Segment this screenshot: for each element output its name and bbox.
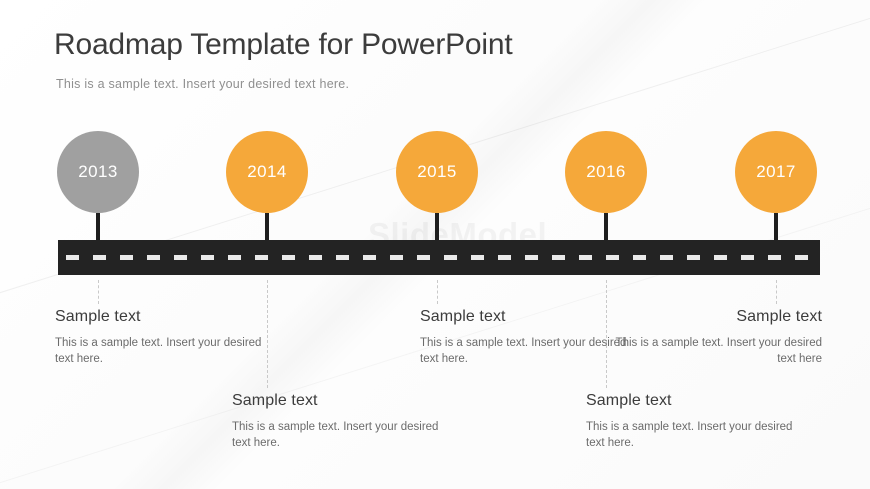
text-block-body: This is a sample text. Insert your desir… (55, 335, 265, 367)
milestone-stem (604, 213, 608, 241)
milestone-connector-line (267, 280, 268, 388)
text-block-heading: Sample text (610, 308, 822, 326)
milestone-year-label-2017: 2017 (735, 131, 817, 213)
milestone-stem (435, 213, 439, 241)
milestone-2015[interactable]: 2015 (396, 131, 478, 213)
roadmap-slide: Roadmap Template for PowerPoint This is … (0, 0, 870, 489)
text-block-heading: Sample text (55, 308, 265, 326)
milestone-2017[interactable]: 2017 (735, 131, 817, 213)
milestone-connector-line (98, 280, 99, 304)
milestone-year-label-2013: 2013 (57, 131, 139, 213)
milestone-year-label-2016: 2016 (565, 131, 647, 213)
milestone-2014[interactable]: 2014 (226, 131, 308, 213)
page-subtitle: This is a sample text. Insert your desir… (56, 77, 349, 91)
text-block-heading: Sample text (586, 392, 796, 410)
text-block-heading: Sample text (232, 392, 442, 410)
text-block-body: This is a sample text. Insert your desir… (610, 335, 822, 367)
milestone-connector-line (437, 280, 438, 304)
roadmap-road-bar (58, 240, 820, 275)
milestone-stem (774, 213, 778, 241)
milestone-stem (96, 213, 100, 241)
milestone-2013[interactable]: 2013 (57, 131, 139, 213)
milestone-stem (265, 213, 269, 241)
milestone-text-block[interactable]: Sample textThis is a sample text. Insert… (55, 308, 265, 367)
text-block-body: This is a sample text. Insert your desir… (420, 335, 630, 367)
text-block-body: This is a sample text. Insert your desir… (232, 419, 442, 451)
milestone-2016[interactable]: 2016 (565, 131, 647, 213)
text-block-body: This is a sample text. Insert your desir… (586, 419, 796, 451)
milestone-year-label-2014: 2014 (226, 131, 308, 213)
milestone-text-block[interactable]: Sample textThis is a sample text. Insert… (586, 392, 796, 451)
page-title: Roadmap Template for PowerPoint (54, 28, 513, 62)
text-block-heading: Sample text (420, 308, 630, 326)
milestone-connector-line (776, 280, 777, 304)
road-dash-markings (66, 255, 812, 260)
milestone-text-block[interactable]: Sample textThis is a sample text. Insert… (232, 392, 442, 451)
milestone-year-label-2015: 2015 (396, 131, 478, 213)
milestone-text-block[interactable]: Sample textThis is a sample text. Insert… (420, 308, 630, 367)
milestone-text-block[interactable]: Sample textThis is a sample text. Insert… (610, 308, 822, 367)
